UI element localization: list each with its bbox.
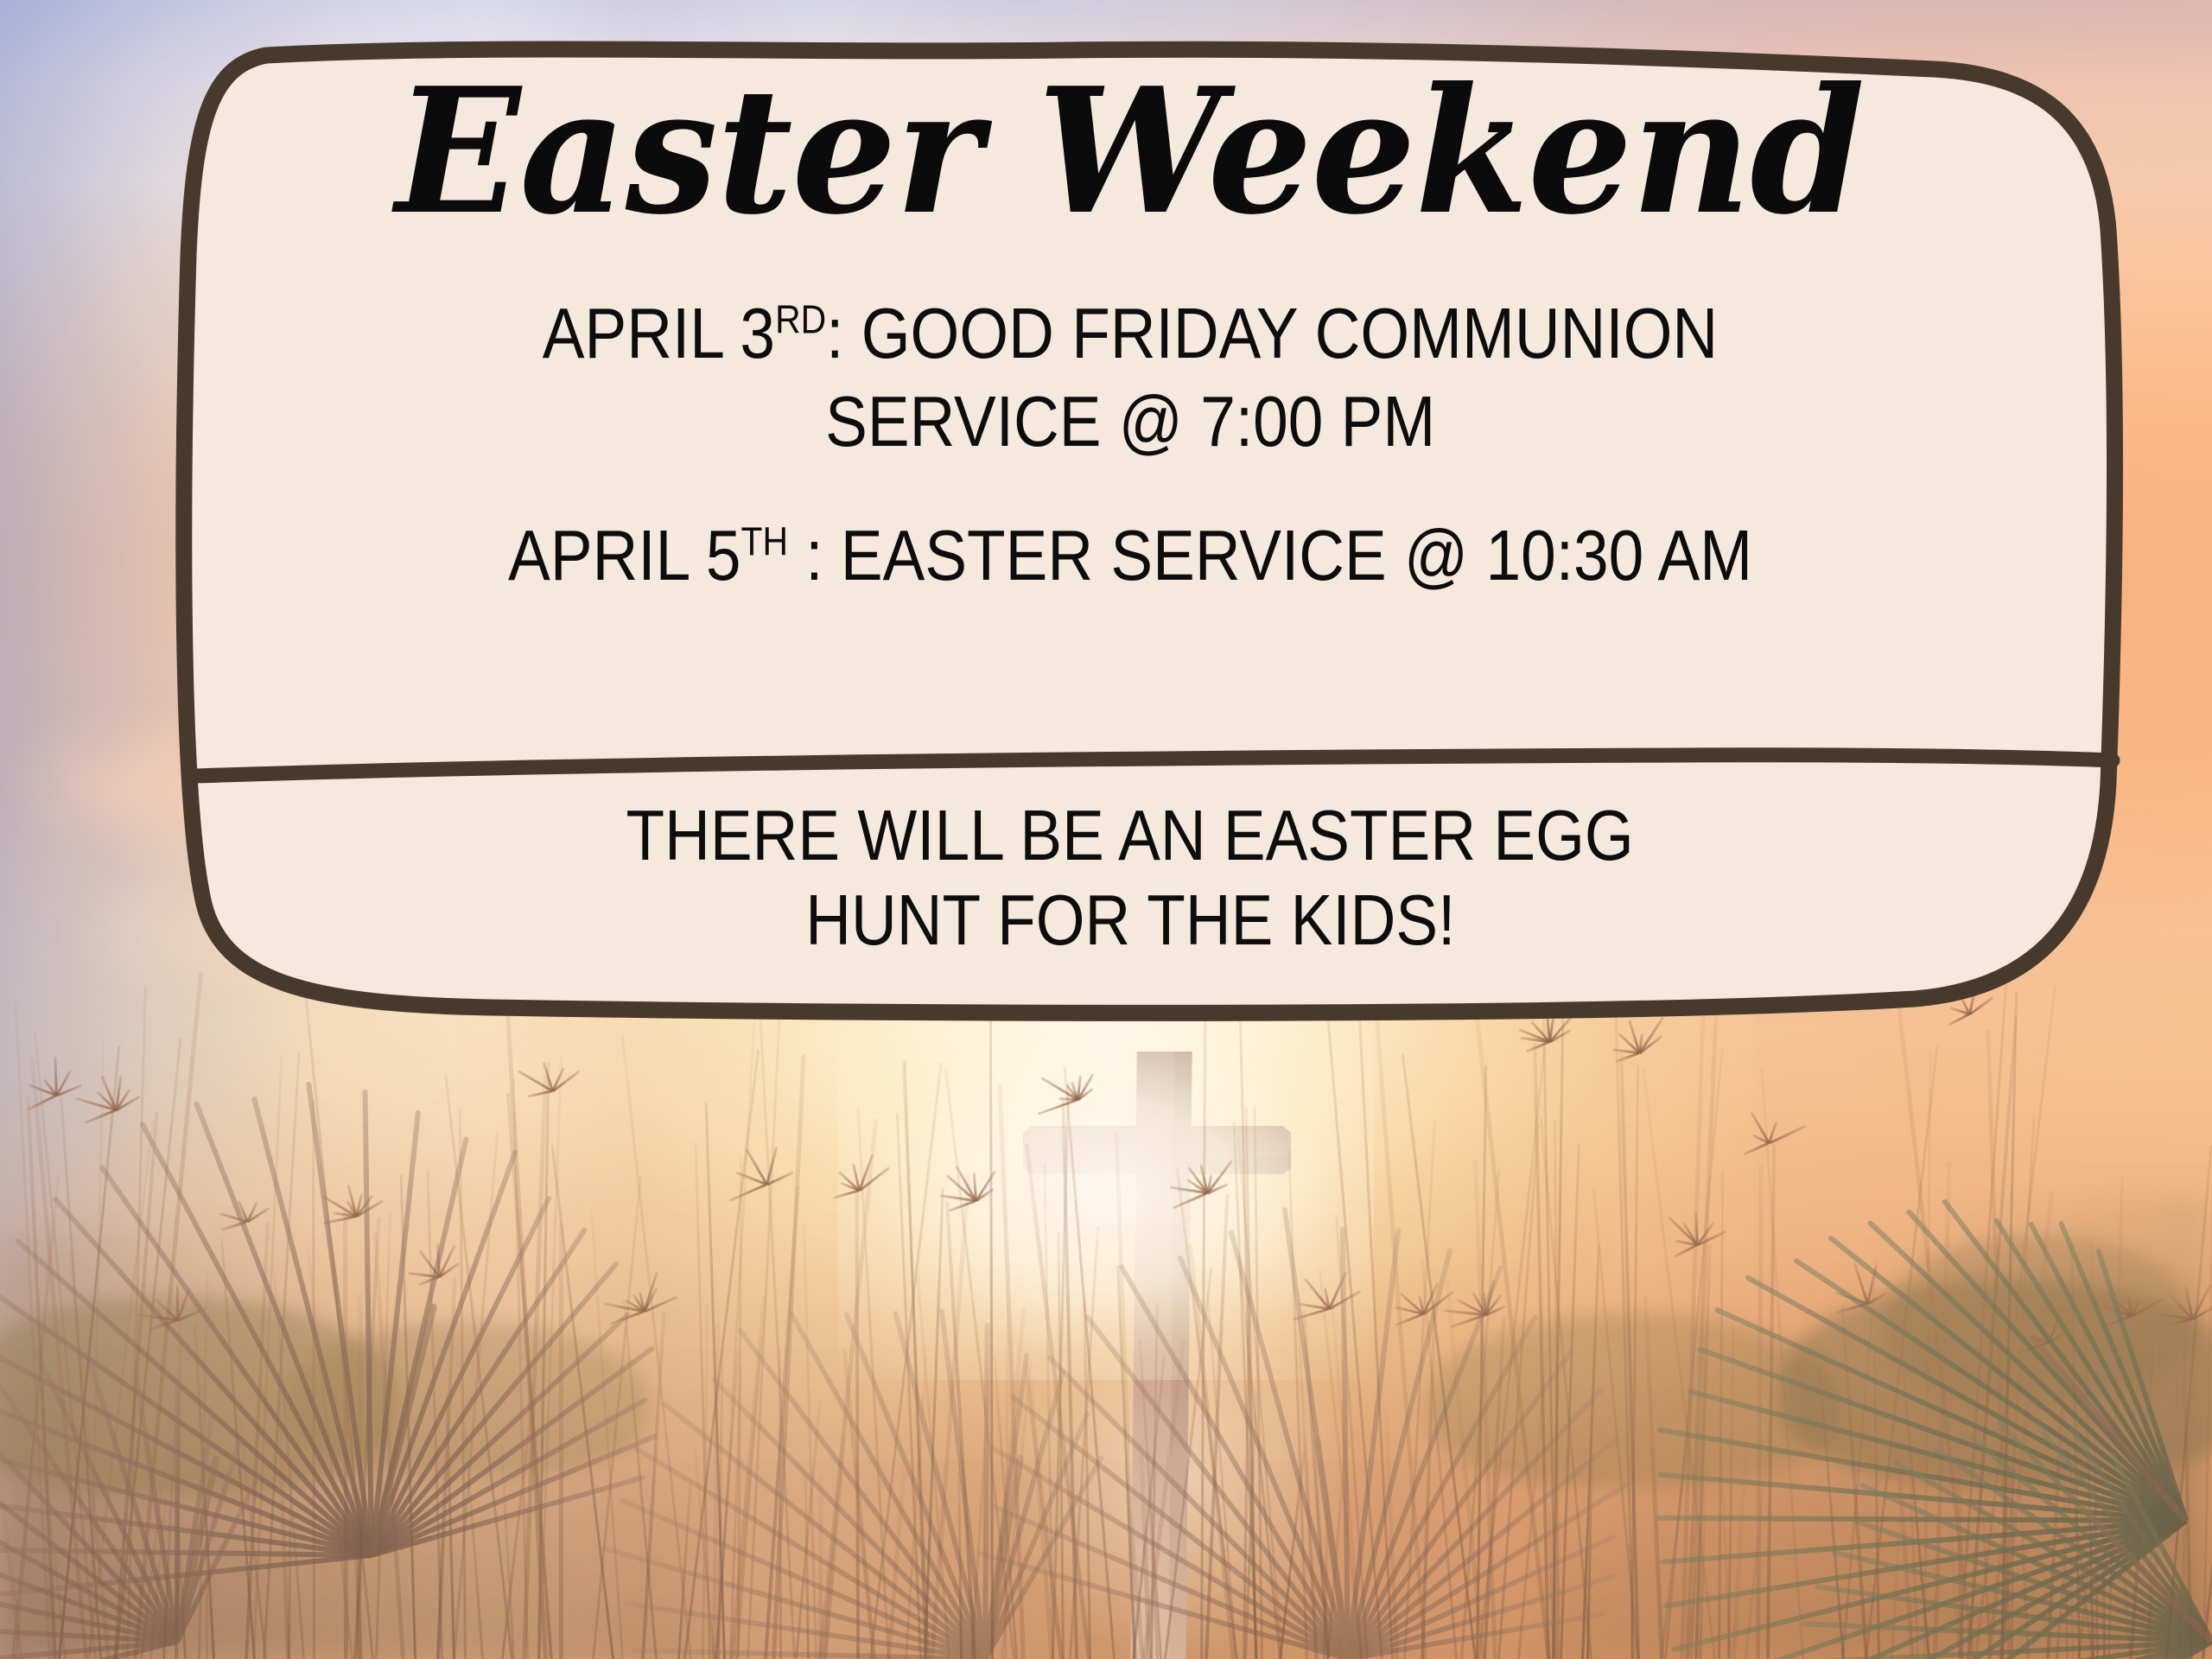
announcement-card: Easter Weekend APRIL 3RD: GOOD FRIDAY CO… xyxy=(128,40,2133,1025)
good-friday-event: : GOOD FRIDAY COMMUNION xyxy=(826,293,1718,373)
grass-stem xyxy=(559,1224,563,1659)
good-friday-line-2: SERVICE @ 7:00 PM xyxy=(825,380,1435,463)
good-friday-ordinal: RD xyxy=(775,296,826,341)
good-friday-line-1: APRIL 3RD: GOOD FRIDAY COMMUNION xyxy=(543,292,1718,375)
card-bottom-section: THERE WILL BE AN EASTER EGG HUNT FOR THE… xyxy=(128,771,2133,1025)
easter-weekend-poster: Easter Weekend APRIL 3RD: GOOD FRIDAY CO… xyxy=(0,0,2212,1659)
easter-event: : EASTER SERVICE @ 10:30 AM xyxy=(788,515,1752,595)
card-content: Easter Weekend APRIL 3RD: GOOD FRIDAY CO… xyxy=(128,40,2133,1025)
card-top-section: Easter Weekend APRIL 3RD: GOOD FRIDAY CO… xyxy=(128,40,2133,748)
easter-date-prefix: APRIL 5 xyxy=(508,515,741,595)
page-title: Easter Weekend xyxy=(396,62,1865,242)
easter-ordinal: TH xyxy=(741,518,788,563)
egg-hunt-line-1: THERE WILL BE AN EASTER EGG xyxy=(626,793,1634,878)
palm-blade xyxy=(175,1377,180,1642)
easter-service-line: APRIL 5TH : EASTER SERVICE @ 10:30 AM xyxy=(508,514,1752,597)
good-friday-date-prefix: APRIL 3 xyxy=(543,293,775,373)
egg-hunt-line-2: HUNT FOR THE KIDS! xyxy=(805,878,1455,963)
